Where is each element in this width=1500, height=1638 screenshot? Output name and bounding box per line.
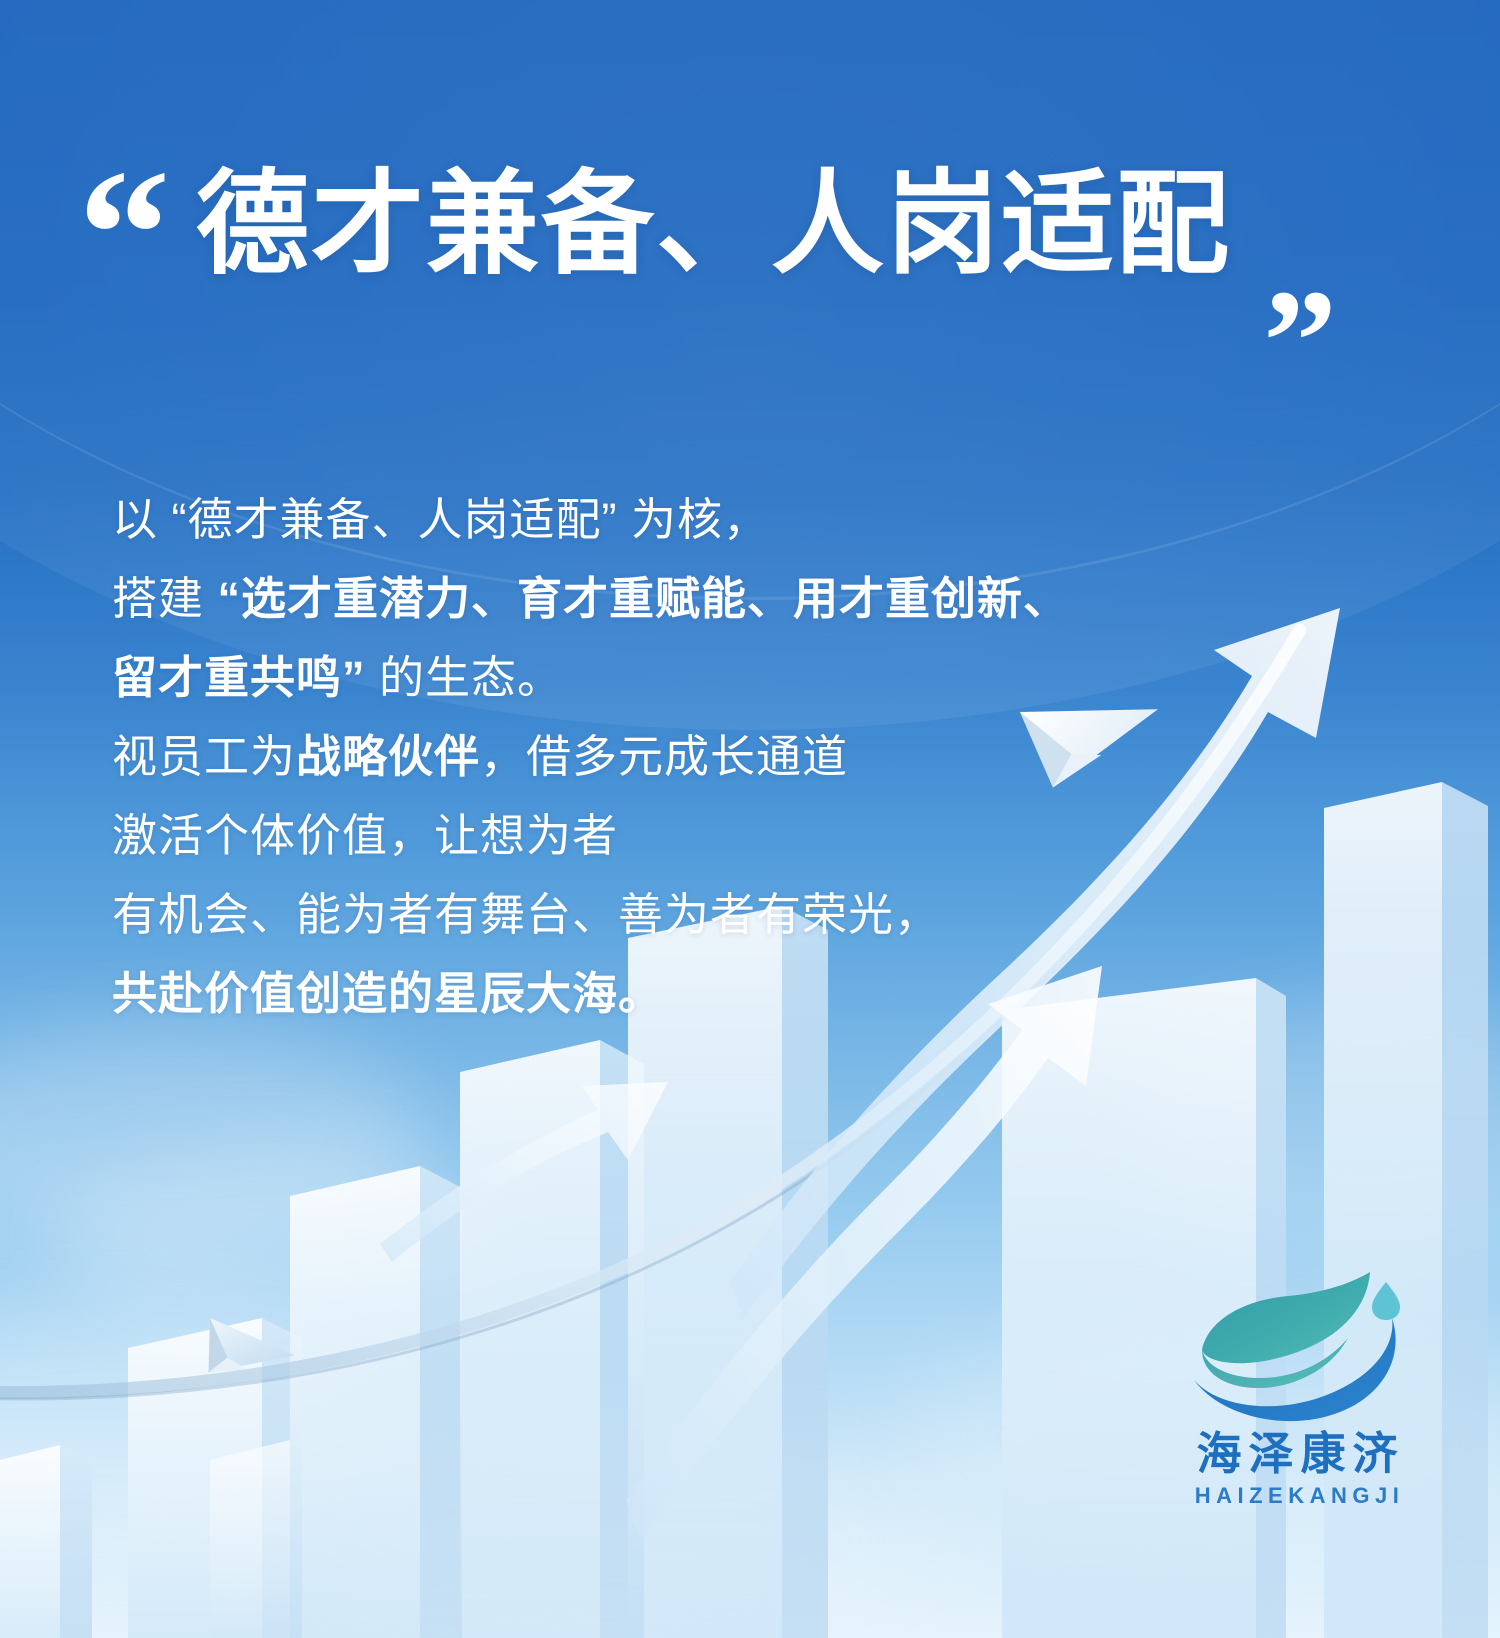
body-line-1: 以 “德才兼备、人岗适配” 为核， [112, 480, 1192, 559]
body-text: 激活个体价值，让想为者 [112, 810, 618, 861]
body-text: 视员工为 [112, 731, 296, 782]
body-text-bold: 共赴价值创造的星辰大海。 [112, 968, 664, 1019]
wave-leaf-logo-icon [1172, 1262, 1422, 1427]
company-name: 海泽康济 [1152, 1429, 1442, 1479]
chart-bar [210, 1440, 290, 1638]
logo-droplet-icon [1372, 1282, 1400, 1320]
quote-close-icon: ” [1263, 268, 1333, 416]
body-text-bold: 留才重共鸣” [112, 652, 366, 703]
body-text: ，借多元成长通道 [480, 731, 848, 782]
body-line-2: 搭建 “选才重潜力、育才重赋能、用才重创新、 [112, 559, 1192, 638]
body-text: 的生态。 [366, 652, 564, 703]
poster-root: “ 德才兼备、人岗适配 ” 以 “德才兼备、人岗适配” 为核， 搭建 “选才重潜… [0, 0, 1500, 1638]
logo-teal-leaf [1202, 1272, 1370, 1363]
body-line-6: 有机会、能为者有舞台、善为者有荣光， [112, 875, 1192, 954]
body-text: 以 “德才兼备、人岗适配” 为核， [112, 494, 769, 545]
body-copy: 以 “德才兼备、人岗适配” 为核， 搭建 “选才重潜力、育才重赋能、用才重创新、… [112, 480, 1192, 1033]
body-text: 有机会、能为者有舞台、善为者有荣光， [112, 889, 940, 940]
body-text: 搭建 [112, 573, 218, 624]
body-line-7: 共赴价值创造的星辰大海。 [112, 954, 1192, 1033]
body-line-4: 视员工为战略伙伴，借多元成长通道 [112, 717, 1192, 796]
page-title: 德才兼备、人岗适配 [196, 158, 1231, 291]
company-logo: 海泽康济 HAIZEKANGJI [1152, 1262, 1442, 1509]
body-text-bold: 战略伙伴 [296, 731, 480, 782]
chart-bar [0, 1445, 92, 1638]
body-line-3: 留才重共鸣” 的生态。 [112, 638, 1192, 717]
body-line-5: 激活个体价值，让想为者 [112, 796, 1192, 875]
company-pinyin: HAIZEKANGJI [1152, 1483, 1442, 1509]
quote-open-icon: “ [78, 142, 163, 327]
chart-bar [290, 1166, 462, 1638]
body-text-bold: “选才重潜力、育才重赋能、用才重创新、 [218, 573, 1070, 624]
chart-bar [1324, 782, 1488, 1638]
headline-block: “ 德才兼备、人岗适配 ” [78, 150, 1418, 360]
